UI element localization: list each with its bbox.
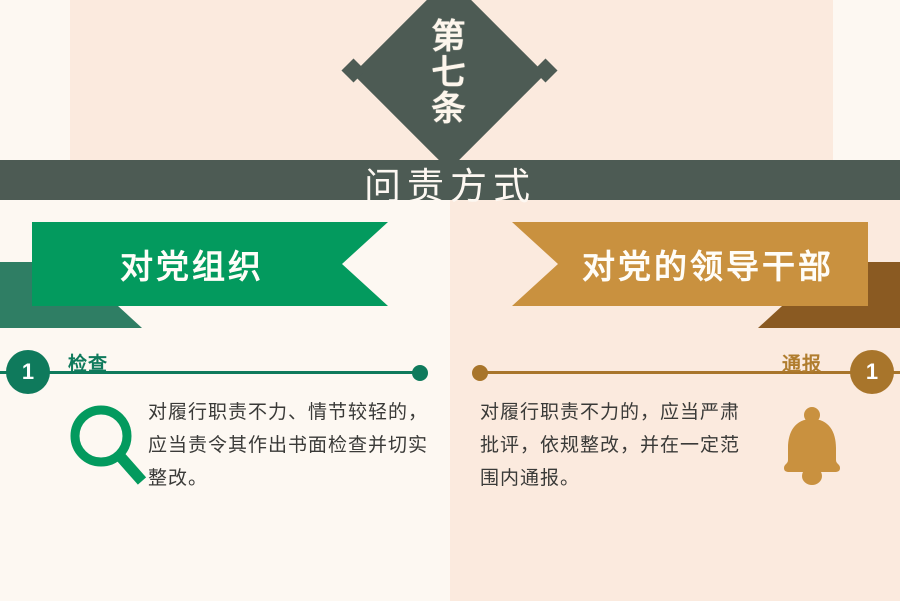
right-divider-line bbox=[476, 371, 900, 374]
right-body-text: 对履行职责不力的，应当严肃批评，依规整改，并在一定范围内通报。 bbox=[480, 396, 755, 495]
left-step-label: 检查 bbox=[68, 349, 108, 376]
left-ribbon-label: 对党组织 bbox=[32, 222, 352, 306]
right-step-number: 1 bbox=[850, 350, 894, 394]
right-line-end-dot bbox=[472, 365, 488, 381]
right-step-label: 通报 bbox=[782, 349, 822, 376]
left-divider-line bbox=[0, 371, 424, 374]
emblem-char-2: 七 bbox=[432, 56, 467, 92]
left-body-text: 对履行职责不力、情节较轻的，应当责令其作出书面检查并切实整改。 bbox=[148, 396, 428, 495]
magnifier-icon bbox=[66, 398, 150, 490]
left-line-end-dot bbox=[412, 365, 428, 381]
article-number-text: 第 七 条 bbox=[381, 6, 517, 142]
right-ribbon-label: 对党的领导干部 bbox=[548, 222, 868, 306]
infographic-canvas: 第 七 条 问责方式 对党组织 对党的领导干部 1 检查 对履行职责不力、情节较… bbox=[0, 0, 900, 601]
page-title: 问责方式 bbox=[0, 152, 900, 214]
bell-icon bbox=[770, 398, 854, 490]
left-step-number: 1 bbox=[6, 350, 50, 394]
emblem-char-1: 第 bbox=[432, 20, 467, 56]
emblem-char-3: 条 bbox=[432, 92, 467, 128]
